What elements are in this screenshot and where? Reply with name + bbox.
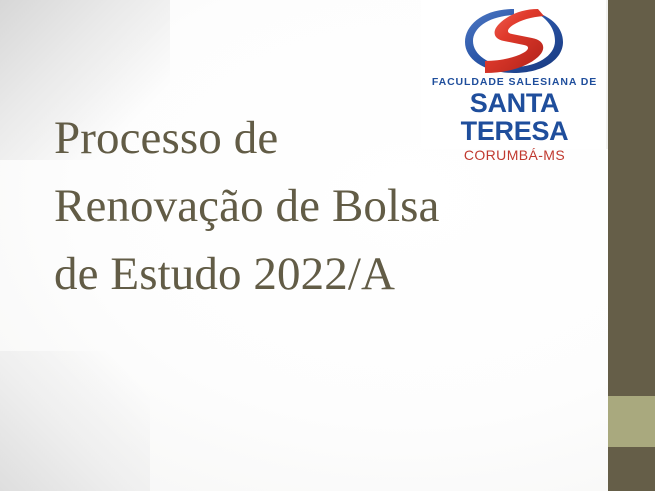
institution-logo-panel: FACULDADE SALESIANA DE SANTA TERESA CORU… (421, 0, 608, 149)
slide-background-corner-shade-bottom-left (0, 351, 150, 491)
logo-line-santa-teresa: SANTA TERESA (421, 89, 608, 145)
logo-line-faculdade: FACULDADE SALESIANA DE (421, 76, 608, 88)
salesiana-s-swoosh-logo-icon (452, 3, 576, 77)
logo-line-corumba-ms: CORUMBÁ-MS (421, 147, 608, 164)
right-accent-bar-highlight (608, 396, 655, 447)
slide-title-line-2: Renovação de Bolsa (54, 172, 574, 240)
slide-title-line-3: de Estudo 2022/A (54, 240, 574, 308)
presentation-slide: Processo de Renovação de Bolsa de Estudo… (0, 0, 655, 491)
institution-logo-text: FACULDADE SALESIANA DE SANTA TERESA CORU… (421, 76, 608, 164)
